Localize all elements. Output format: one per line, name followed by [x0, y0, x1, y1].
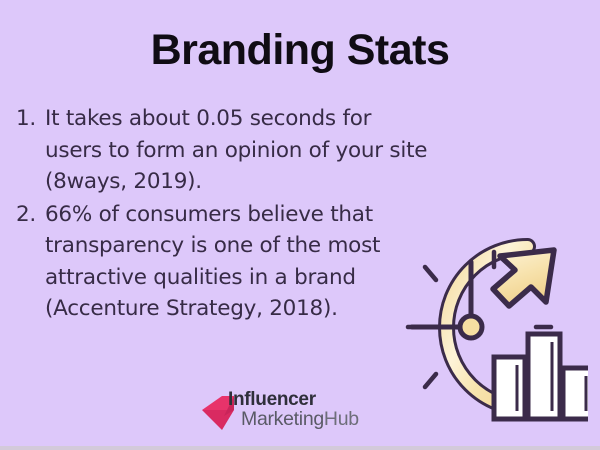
list-item: 1. It takes about 0.05 seconds for users…	[16, 103, 428, 198]
bar-middle	[528, 334, 560, 419]
list-item-text: 66% of consumers believe that transparen…	[45, 199, 428, 325]
bar-right	[563, 368, 588, 419]
bar-chart-icon	[494, 334, 588, 419]
logo-word-hub: Hub	[324, 408, 359, 430]
influencer-marketing-hub-logo: Influencer MarketingHub	[200, 388, 400, 436]
list-item-number: 2.	[16, 199, 40, 231]
slide-canvas: Branding Stats 1. It takes about 0.05 se…	[0, 0, 600, 446]
logo-wordmark: Influencer MarketingHub	[228, 388, 403, 434]
stats-list: 1. It takes about 0.05 seconds for users…	[16, 103, 428, 326]
bar-left	[494, 357, 525, 419]
list-item: 2. 66% of consumers believe that transpa…	[16, 199, 428, 325]
logo-line-marketinghub: MarketingHub	[241, 408, 359, 431]
branding-stats-slide: Branding Stats 1. It takes about 0.05 se…	[0, 0, 600, 450]
clock-center-hub	[460, 316, 482, 338]
list-item-text: It takes about 0.05 seconds for users to…	[45, 103, 428, 198]
list-item-number: 1.	[16, 103, 40, 135]
clock-bar-chart-illustration	[376, 234, 588, 424]
page-title: Branding Stats	[0, 24, 600, 76]
clock-icon	[376, 234, 588, 424]
logo-word-marketing: Marketing	[241, 408, 324, 430]
bottom-edge-strip	[0, 446, 600, 450]
